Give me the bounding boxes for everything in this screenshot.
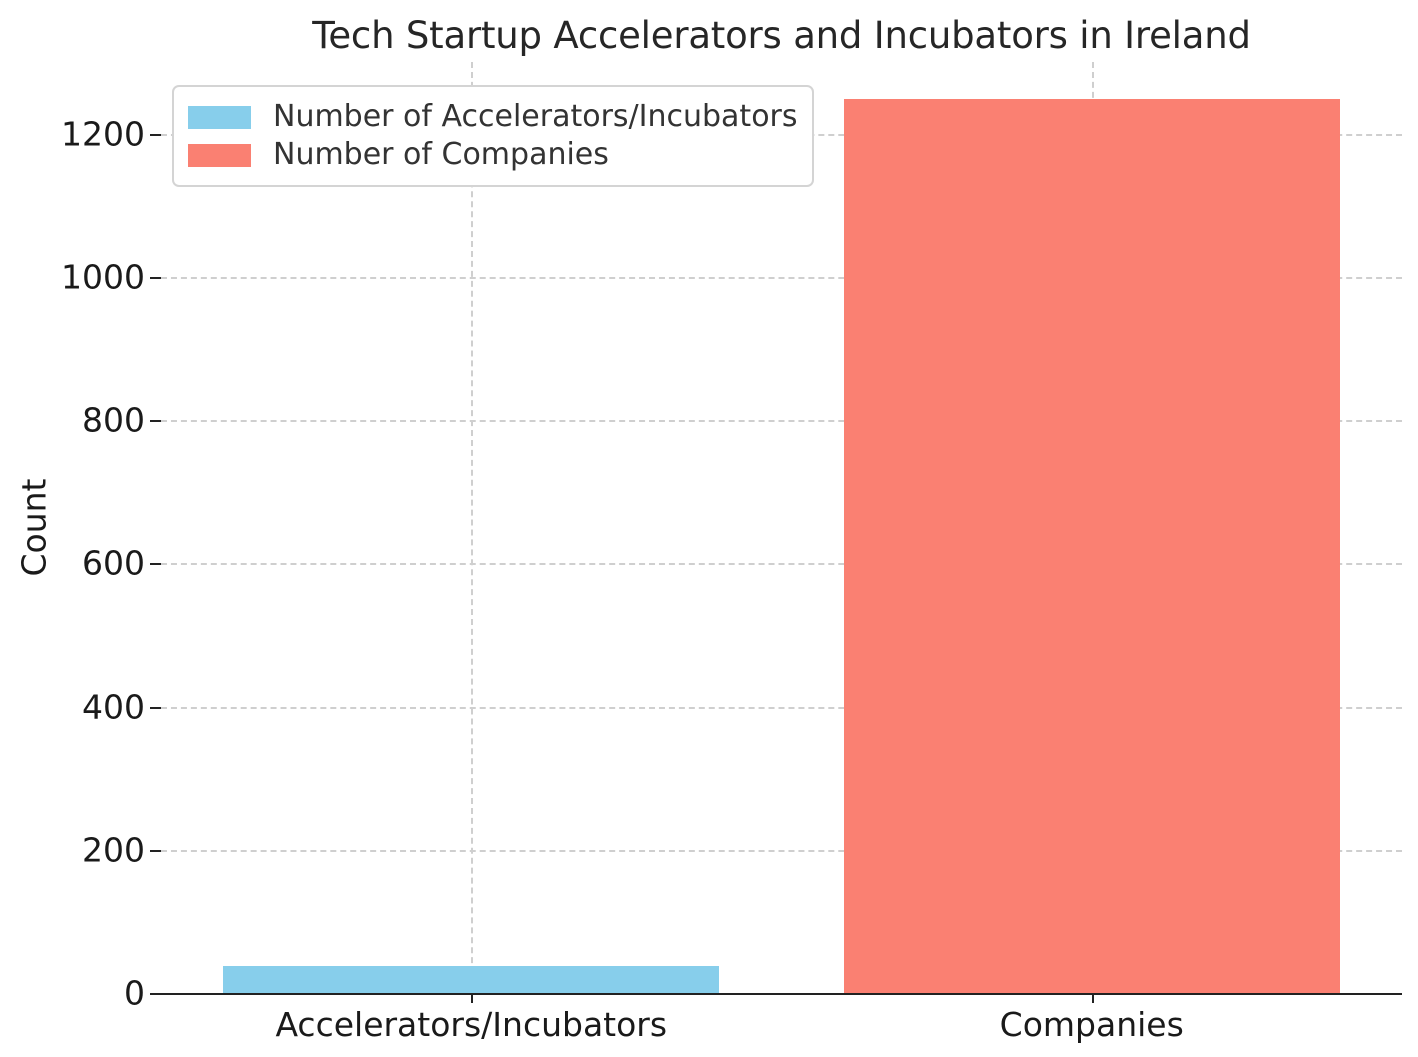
legend-label: Number of Companies xyxy=(273,140,609,170)
y-tick-label: 1000 xyxy=(61,257,159,296)
plot-area xyxy=(161,62,1402,993)
legend-item-1[interactable]: Number of Accelerators/Incubators xyxy=(188,98,798,136)
x-tick-label: Accelerators/Incubators xyxy=(275,1005,667,1044)
y-tick-label: 1200 xyxy=(61,114,159,153)
y-tick-label: 200 xyxy=(82,830,159,869)
legend-swatch-icon xyxy=(188,144,251,167)
y-axis-label-text: Count xyxy=(15,478,54,576)
x-tick-label: Companies xyxy=(1000,1005,1184,1044)
y-axis-label: Count xyxy=(12,62,56,993)
y-tick-label: 600 xyxy=(82,544,159,583)
legend-swatch-icon xyxy=(188,106,251,129)
y-tick-label: 0 xyxy=(124,974,159,1013)
x-tick-mark xyxy=(471,993,473,1003)
gridline-vertical xyxy=(471,62,473,993)
legend-item-2[interactable]: Number of Companies xyxy=(188,136,798,174)
chart-figure: Tech Startup Accelerators and Incubators… xyxy=(0,0,1418,1057)
bar-2[interactable] xyxy=(844,99,1340,993)
x-tick-mark xyxy=(1092,993,1094,1003)
bar-1[interactable] xyxy=(223,966,719,993)
legend-label: Number of Accelerators/Incubators xyxy=(273,102,798,132)
chart-title: Tech Startup Accelerators and Incubators… xyxy=(161,14,1402,57)
chart-legend[interactable]: Number of Accelerators/IncubatorsNumber … xyxy=(172,85,814,187)
y-tick-label: 400 xyxy=(82,687,159,726)
y-tick-label: 800 xyxy=(82,401,159,440)
